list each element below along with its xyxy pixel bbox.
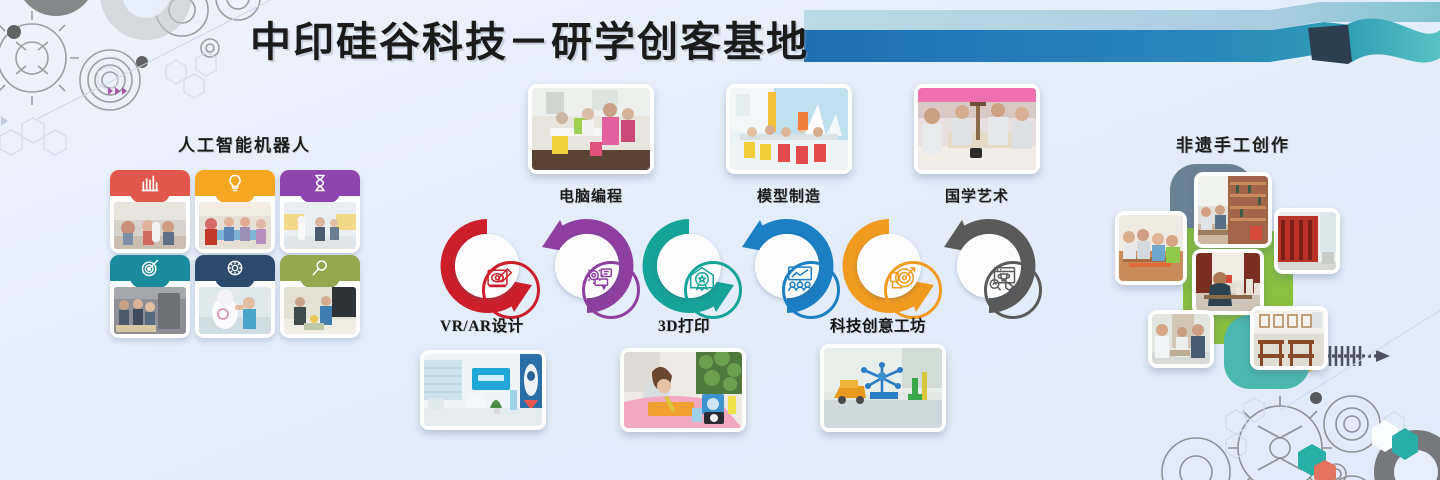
circle-badge-1[interactable] [434,213,540,319]
center-bottom-photo-2[interactable] [620,348,746,432]
circle-inner [657,234,721,298]
circle-inner [957,234,1021,298]
circle-ring [782,261,840,319]
ai-card-6[interactable] [280,255,360,338]
card-photo [199,202,271,249]
card-photo [114,287,186,334]
ai-card-3[interactable] [280,170,360,253]
ai-card-2[interactable] [195,170,275,253]
vr-design-icon [485,264,515,294]
circle-badge-2[interactable] [534,213,640,319]
circle-label-5: 科技创意工坊 [830,314,926,336]
circle-inner [455,234,519,298]
ai-robot-card-grid [110,170,365,340]
trophy-browser-icon [987,264,1017,294]
infographic-banner: 中印硅谷科技－研学创客基地 人工智能机器人 [0,0,1440,480]
circle-inner [857,234,921,298]
right-photo-6[interactable] [1250,306,1328,370]
center-top-caption-3: 国学艺术 [914,185,1040,206]
center-top-caption-1: 电脑编程 [528,185,654,206]
circle-inner [555,234,619,298]
center-top-photo-1[interactable] [528,84,654,174]
ribbon-banner-decoration [800,0,1440,90]
circle-label-1: VR/AR设计 [440,314,524,336]
circle-ring [984,261,1042,319]
dartboard-icon [887,264,917,294]
circle-badge-6[interactable] [936,213,1042,319]
card-photo [199,287,271,334]
lightbulb-icon [225,173,245,193]
ai-card-5[interactable] [195,255,275,338]
ai-card-1[interactable] [110,170,190,253]
circle-ring [482,261,540,319]
right-photo-4[interactable] [1192,249,1264,315]
circle-label-3: 3D打印 [658,314,710,336]
center-top-photo-2[interactable] [726,84,852,174]
hourglass-icon [310,173,330,193]
circle-ring [582,261,640,319]
target-icon [140,258,160,278]
page-title: 中印硅谷科技－研学创客基地 [250,8,809,68]
right-section-heading: 非遗手工创作 [1176,131,1290,156]
card-photo [284,287,356,334]
right-photo-1[interactable] [1115,211,1187,285]
magnifier-icon [310,258,330,278]
circle-badge-5[interactable] [836,213,942,319]
gear-icon [225,258,245,278]
circle-inner [755,234,819,298]
right-photo-5[interactable] [1148,310,1214,368]
coding-gear-icon [585,264,615,294]
center-top-photo-3[interactable] [914,84,1040,174]
center-bottom-photo-1[interactable] [420,350,546,430]
right-photo-2[interactable] [1194,172,1272,248]
circle-ring [884,261,942,319]
award-medal-icon [687,264,717,294]
presentation-team-icon [785,264,815,294]
bar-chart-icon [140,173,160,193]
center-bottom-photo-3[interactable] [820,344,946,432]
center-top-caption-2: 模型制造 [726,185,852,206]
card-photo [284,202,356,249]
ai-card-4[interactable] [110,255,190,338]
circle-badge-3[interactable] [636,213,742,319]
left-section-heading: 人工智能机器人 [178,131,311,156]
right-photo-3[interactable] [1274,208,1340,274]
card-photo [114,202,186,249]
circle-badge-4[interactable] [734,213,840,319]
